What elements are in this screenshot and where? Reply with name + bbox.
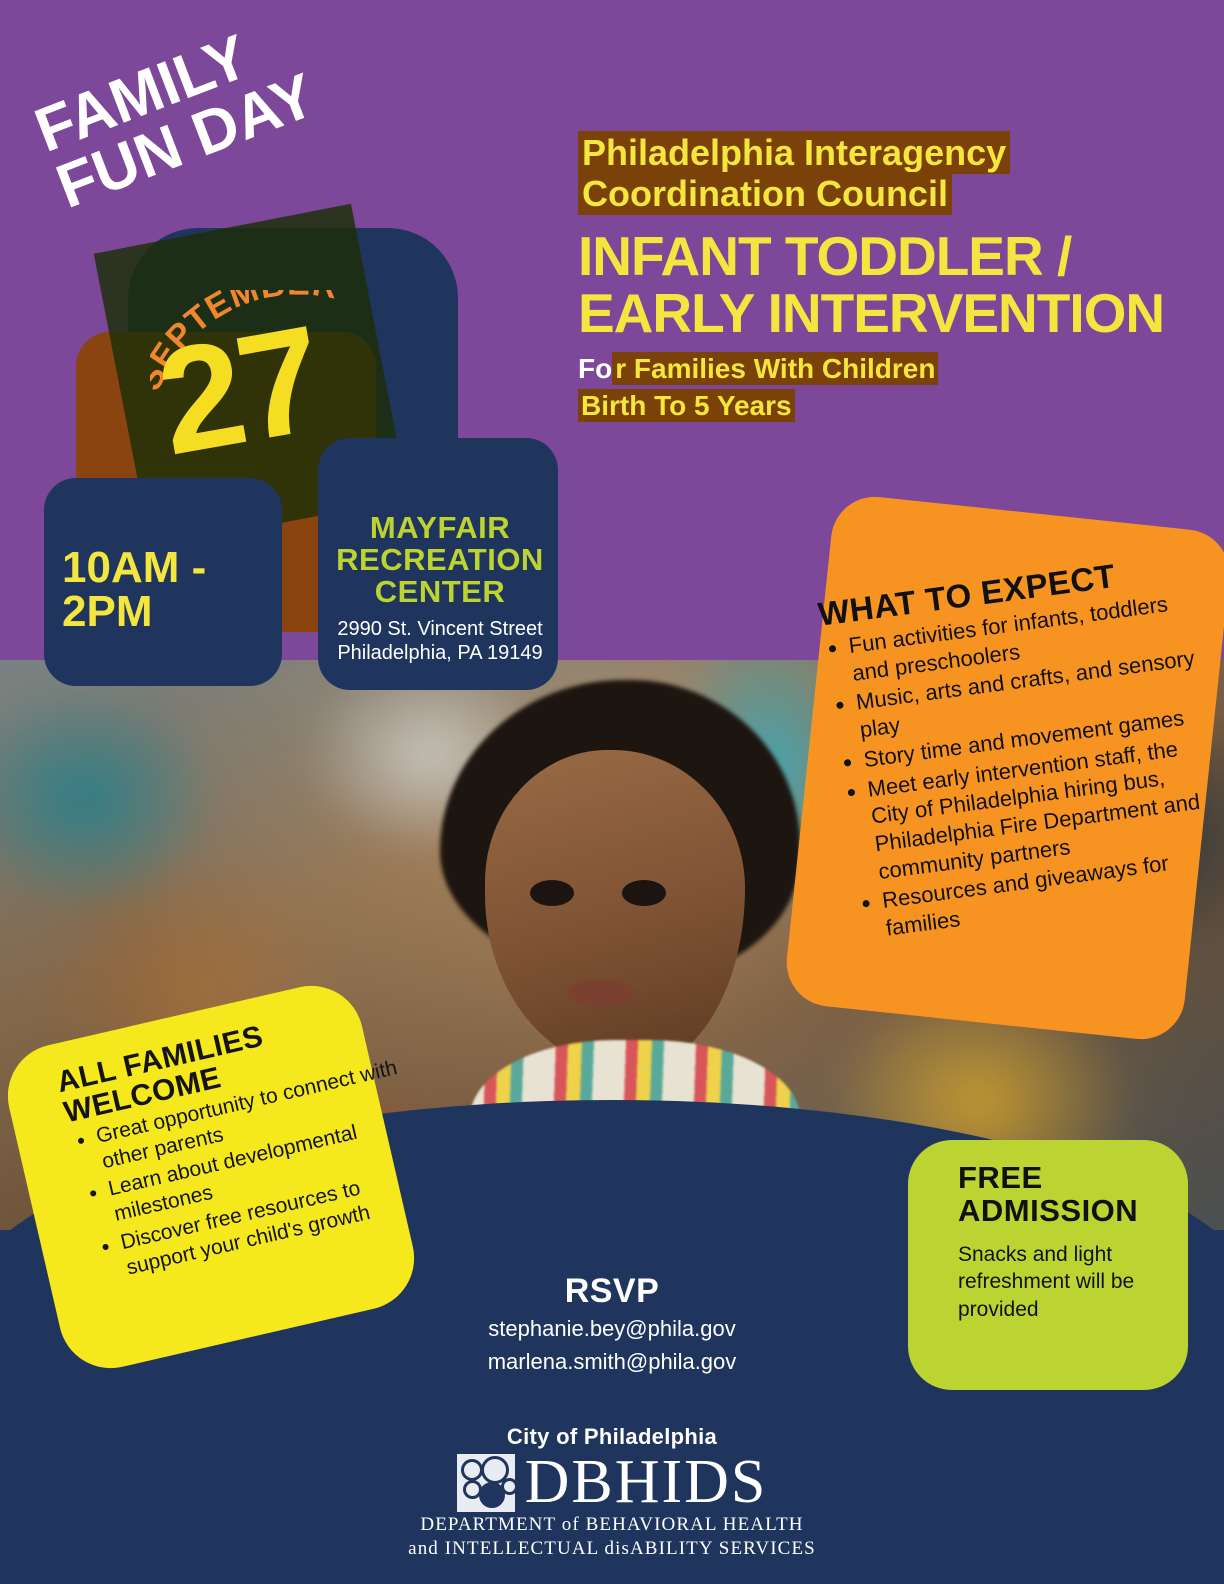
what-to-expect-list: Fun activities for infants, toddlers and… [821, 587, 1224, 946]
logo-tagline-line1: DEPARTMENT of BEHAVIORAL HEALTH [0, 1514, 1224, 1536]
logo-acronym: DBHIDS [525, 1455, 768, 1511]
dbhids-circles-icon [457, 1454, 515, 1512]
venue-name-line1: MAYFAIR [326, 512, 554, 544]
logo-wordmark-row: DBHIDS [0, 1454, 1224, 1512]
venue-name: MAYFAIR RECREATION CENTER [326, 512, 554, 609]
council-line2: Coordination Council [578, 172, 952, 215]
page-title: INFANT TODDLER / EARLY INTERVENTION [578, 228, 1198, 341]
logo-tagline-line2: and INTELLECTUAL disABILITY SERVICES [0, 1538, 1224, 1560]
event-name-banner: FAMILY FUN DAY [28, 0, 379, 217]
rsvp-block: RSVP stephanie.bey@phila.gov marlena.smi… [412, 1272, 812, 1376]
child-mouth [568, 980, 634, 1006]
free-admission-title: FREE ADMISSION [958, 1162, 1178, 1227]
rsvp-email-2[interactable]: marlena.smith@phila.gov [412, 1348, 812, 1377]
subtitle-prefix: Fo [578, 353, 612, 384]
venue-info: MAYFAIR RECREATION CENTER 2990 St. Vince… [326, 512, 554, 665]
rsvp-email-1[interactable]: stephanie.bey@phila.gov [412, 1315, 812, 1344]
logo-city-label: City of Philadelphia [0, 1424, 1224, 1450]
dbhids-logo: City of Philadelphia DBHIDS DEPARTMENT o… [0, 1424, 1224, 1560]
header-block: Philadelphia Interagency Coordination Co… [578, 132, 1198, 425]
council-line1: Philadelphia Interagency [578, 131, 1010, 174]
venue-address-line1: 2990 St. Vincent Street [326, 617, 554, 641]
free-admission-body: Snacks and light refreshment will be pro… [958, 1241, 1178, 1323]
free-admission-content: FREE ADMISSION Snacks and light refreshm… [958, 1162, 1178, 1323]
council-name: Philadelphia Interagency Coordination Co… [578, 132, 1198, 214]
venue-address: 2990 St. Vincent Street Philadelphia, PA… [326, 617, 554, 666]
rsvp-title: RSVP [412, 1272, 812, 1311]
title-line2: EARLY INTERVENTION [578, 285, 1198, 342]
subtitle: For Families With Children Birth To 5 Ye… [578, 351, 1198, 425]
venue-name-line3: CENTER [326, 576, 554, 608]
subtitle-line1: r Families With Children [612, 352, 938, 385]
child-eye-right [622, 880, 666, 906]
venue-name-line2: RECREATION [326, 544, 554, 576]
event-time: 10AM - 2PM [62, 546, 272, 634]
child-eye-left [530, 880, 574, 906]
free-admission-title-line1: FREE [958, 1162, 1178, 1195]
day-number: 27 [148, 302, 330, 477]
title-line1: INFANT TODDLER / [578, 228, 1198, 285]
event-flyer: FAMILY FUN DAY SEPTEMBER 27 10AM - 2PM M… [0, 0, 1224, 1584]
child-face [485, 750, 745, 1070]
event-name-text: FAMILY FUN DAY [28, 0, 379, 217]
venue-address-line2: Philadelphia, PA 19149 [326, 641, 554, 665]
subtitle-line2: Birth To 5 Years [578, 389, 795, 422]
free-admission-title-line2: ADMISSION [958, 1195, 1178, 1228]
what-to-expect-content: WHAT TO EXPECT Fun activities for infant… [816, 547, 1224, 947]
